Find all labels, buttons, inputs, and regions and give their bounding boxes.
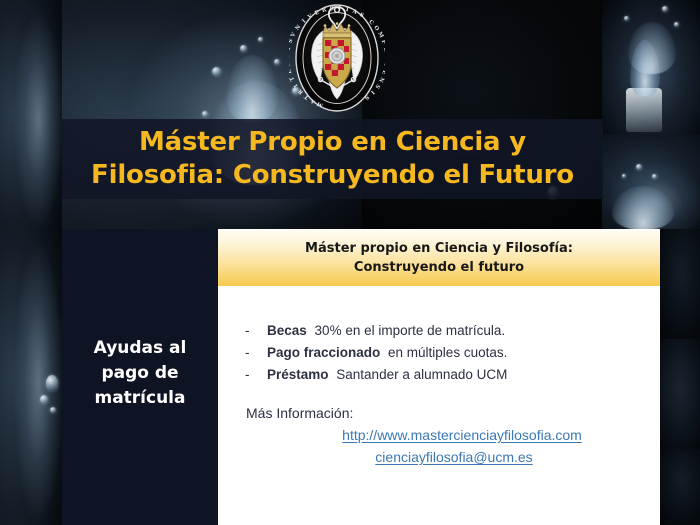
benefits-list: - Becas 30% en el importe de matrícula. … xyxy=(218,286,660,386)
website-link-row: http://www.mastercienciayfilosofia.com xyxy=(246,424,660,446)
svg-text:M: M xyxy=(376,31,384,39)
bg-tile-splash-5 xyxy=(602,134,700,229)
svg-text:L: L xyxy=(382,47,385,52)
bullet-dash-icon: - xyxy=(245,364,267,386)
slide-title-line-1: Máster Propio en Ciencia y xyxy=(139,126,526,159)
bullet-term: Préstamo xyxy=(267,364,329,386)
list-item: - Becas 30% en el importe de matrícula. xyxy=(218,320,660,342)
bullet-dash-icon: - xyxy=(245,320,267,342)
bullet-dash-icon: - xyxy=(245,342,267,364)
svg-text:N: N xyxy=(377,76,385,83)
ucm-coat-of-arms-icon: V N I V E R S I T A S C O M P L V T E N xyxy=(289,1,385,113)
svg-text:N: N xyxy=(289,61,292,67)
content-card: Máster propio en Ciencia y Filosofía: Co… xyxy=(218,229,660,525)
slide-title-band: Máster Propio en Ciencia y Filosofia: Co… xyxy=(62,119,603,199)
svg-text:V: V xyxy=(383,54,385,60)
more-info-label: Más Información: xyxy=(246,402,660,424)
card-header: Máster propio en Ciencia y Filosofía: Co… xyxy=(218,229,660,286)
svg-text:S: S xyxy=(374,83,381,90)
svg-text:S: S xyxy=(289,38,294,44)
more-info-block: Más Información: http://www.mastercienci… xyxy=(218,386,660,468)
bullet-text: en múltiples cuotas. xyxy=(384,342,507,364)
website-link[interactable]: http://www.mastercienciayfilosofia.com xyxy=(342,427,582,443)
bg-tile-water-6 xyxy=(0,229,62,525)
bullet-term: Becas xyxy=(267,320,307,342)
sidebar-heading: Ayudas al pago de matrícula xyxy=(75,336,205,411)
bullet-term: Pago fraccionado xyxy=(267,342,380,364)
svg-text:V: V xyxy=(290,31,298,39)
email-link[interactable]: cienciayfilosofia@ucm.es xyxy=(375,449,532,465)
slide-title-line-2: Filosofia: Construyendo el Futuro xyxy=(91,159,574,192)
svg-text:I: I xyxy=(289,46,292,50)
svg-text:T: T xyxy=(382,62,385,67)
bullet-text: 30% en el importe de matrícula. xyxy=(311,320,505,342)
list-item: - Pago fraccionado en múltiples cuotas. xyxy=(218,342,660,364)
sidebar-panel: Ayudas al pago de matrícula xyxy=(62,229,218,525)
email-link-row: cienciayfilosofia@ucm.es xyxy=(246,446,660,468)
list-item: - Préstamo Santander a alumnado UCM xyxy=(218,364,660,386)
svg-text:T: T xyxy=(289,76,296,82)
presentation-slide: V N I V E R S I T A S C O M P L V T E N xyxy=(0,0,700,525)
bullet-text: Santander a alumnado UCM xyxy=(333,364,508,386)
bg-tile-dark-8 xyxy=(660,339,700,449)
card-header-line-1: Máster propio en Ciencia y Filosofía: xyxy=(305,239,573,258)
bg-tile-dark-9 xyxy=(660,449,700,525)
card-header-line-2: Construyendo el futuro xyxy=(354,258,524,277)
svg-text:I: I xyxy=(293,82,300,88)
bg-tile-dark-7 xyxy=(660,229,700,339)
svg-text:S: S xyxy=(289,54,291,58)
card-body: - Becas 30% en el importe de matrícula. … xyxy=(218,286,660,468)
bg-tile-candle-4 xyxy=(602,0,700,134)
bg-tile-water-1 xyxy=(0,0,62,229)
svg-text:P: P xyxy=(380,39,385,45)
svg-text:E: E xyxy=(289,69,293,75)
svg-text:E: E xyxy=(380,69,385,75)
